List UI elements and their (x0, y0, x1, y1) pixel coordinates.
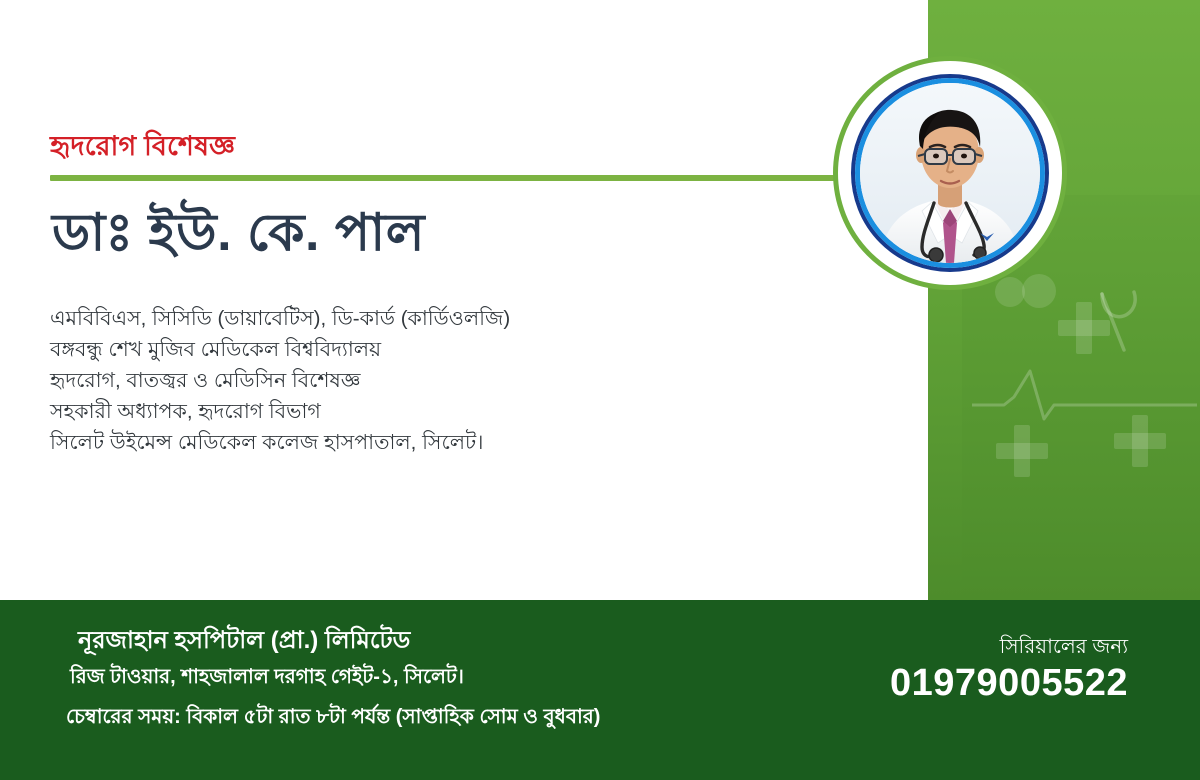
medical-cross-icon (1058, 302, 1110, 354)
qualification-line: এমবিবিএস, সিসিডি (ডায়াবেটিস), ডি-কার্ড … (50, 303, 810, 334)
qualification-line: বঙ্গবন্ধু শেখ মুজিব মেডিকেল বিশ্ববিদ্যাল… (50, 334, 810, 365)
qualification-line: হৃদরোগ, বাতজ্বর ও মেডিসিন বিশেষজ্ঞ (50, 365, 810, 396)
doctor-portrait (833, 56, 1067, 290)
medical-cross-icon (996, 425, 1048, 477)
card-footer: নূরজাহান হসপিটাল (প্রা.) লিমিটেড রিজ টাও… (0, 600, 1200, 780)
doctor-visiting-card: হৃদরোগ বিশেষজ্ঞ ডাঃ ইউ. কে. পাল এমবিবিএস… (0, 0, 1200, 780)
card-content: হৃদরোগ বিশেষজ্ঞ ডাঃ ইউ. কে. পাল এমবিবিএস… (0, 0, 928, 600)
specialty-title: হৃদরোগ বিশেষজ্ঞ (50, 126, 235, 171)
title-divider (50, 175, 845, 181)
qualification-line: সিলেট উইমেন্স মেডিকেল কলেজ হাসপাতাল, সিল… (50, 427, 810, 458)
phone-number[interactable]: 01979005522 (890, 662, 1128, 705)
qualification-line: সহকারী অধ্যাপক, হৃদরোগ বিভাগ (50, 396, 810, 427)
medical-cross-icon (1114, 415, 1166, 467)
serial-label: সিরিয়ালের জন্য (1000, 632, 1128, 665)
hospital-name: নূরজাহান হসপিটাল (প্রা.) লিমিটেড (78, 622, 410, 662)
chamber-hours: চেম্বারের সময়: বিকাল ৫টা রাত ৮টা পর্যন্… (66, 702, 600, 735)
hospital-address: রিজ টাওয়ার, শাহজালাল দরগাহ গেইট-১, সিলে… (70, 662, 464, 695)
doctor-name: ডাঃ ইউ. কে. পাল (52, 192, 425, 279)
qualifications-list: এমবিবিএস, সিসিডি (ডায়াবেটিস), ডি-কার্ড … (50, 303, 810, 458)
portrait-photo (860, 83, 1040, 263)
